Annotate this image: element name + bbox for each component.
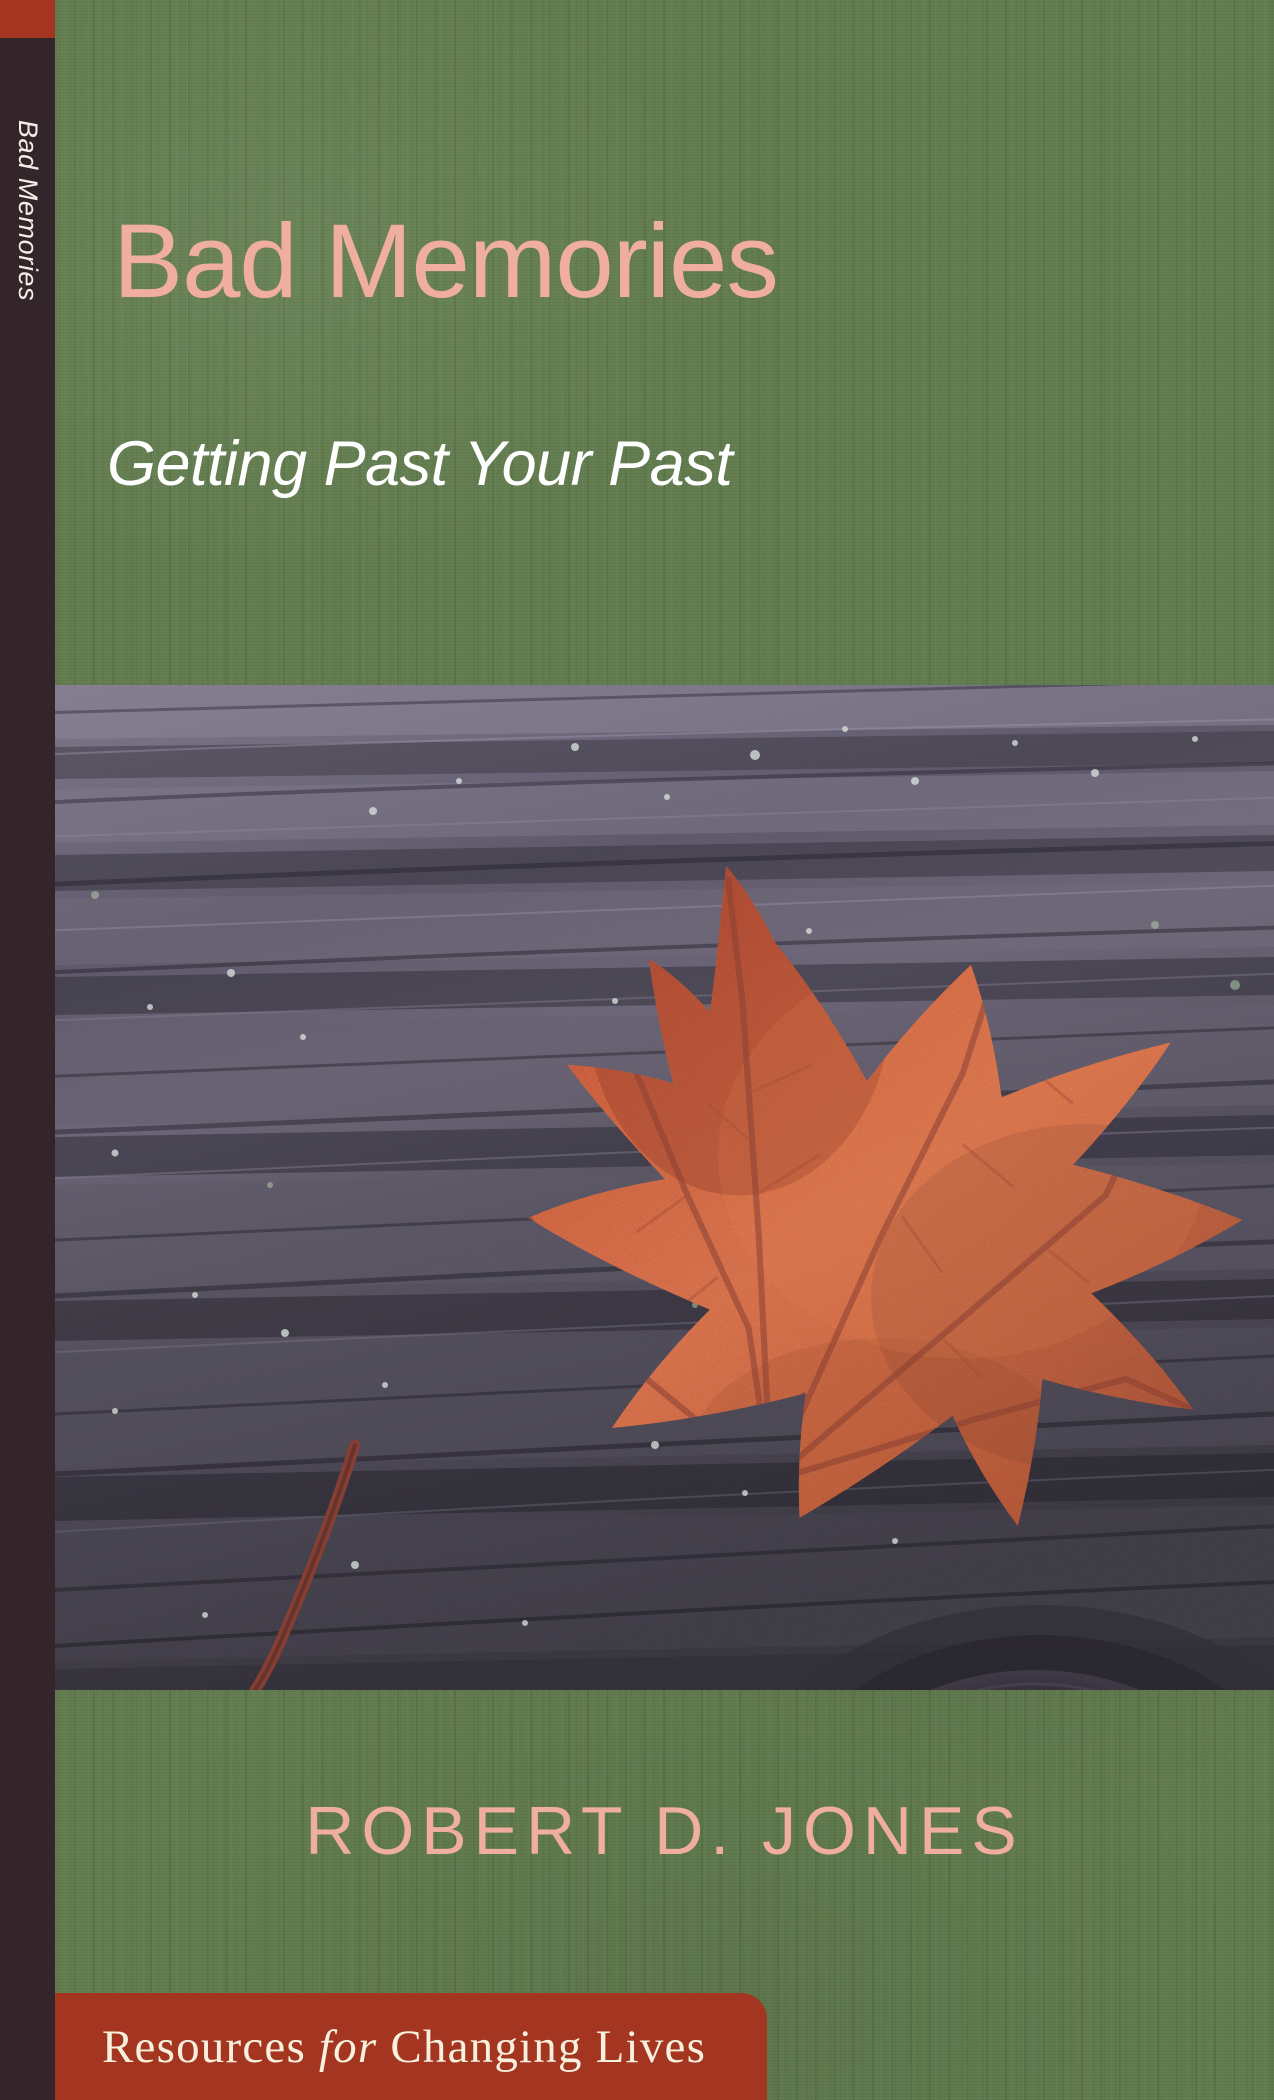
book-cover: Bad Memories Bad Memories Getting Past Y… xyxy=(0,0,1274,2100)
series-word-1: Resources xyxy=(102,2021,306,2073)
series-banner-text: Resources for Changing Lives xyxy=(55,2020,706,2074)
spine-title-text: Bad Memories xyxy=(12,119,43,300)
cover-photo xyxy=(55,685,1274,1690)
series-word-2: Changing Lives xyxy=(390,2021,706,2073)
leaf-on-wood-illustration xyxy=(55,685,1274,1690)
book-title: Bad Memories xyxy=(113,208,778,315)
spine-title: Bad Memories xyxy=(0,0,55,420)
series-banner: Resources for Changing Lives xyxy=(55,1993,767,2100)
author-name: ROBERT D. JONES xyxy=(0,1792,1274,1870)
book-subtitle: Getting Past Your Past xyxy=(107,428,732,500)
series-word-italic: for xyxy=(319,2021,377,2073)
